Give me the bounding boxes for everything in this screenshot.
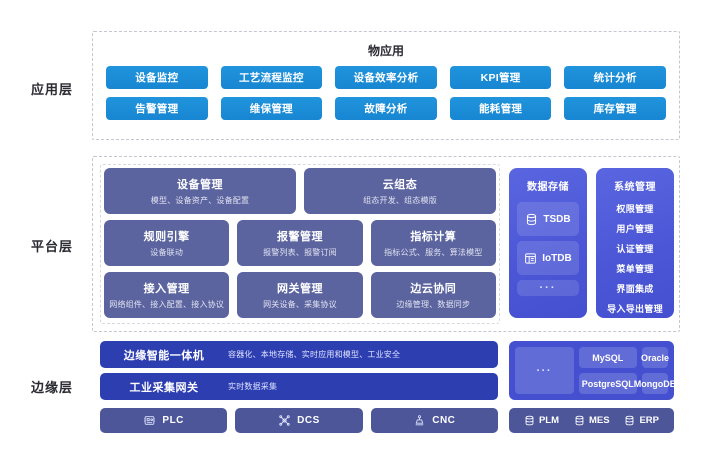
card-title: 规则引擎: [144, 228, 190, 244]
card-title: 网关管理: [277, 280, 323, 296]
platform-card-rule-engine[interactable]: 规则引擎 设备联动: [104, 220, 229, 266]
platform-card-alarm-management[interactable]: 报警管理 报警列表、报警订阅: [237, 220, 362, 266]
platform-card-access-management[interactable]: 接入管理 网络组件、接入配置、接入协议: [104, 272, 229, 318]
database-icon: [524, 415, 535, 426]
enterprise-system-plm[interactable]: PLM: [524, 415, 559, 426]
edge-bar-title: 边缘智能一体机: [100, 347, 228, 363]
app-button-kpi-management[interactable]: KPI管理: [450, 66, 552, 89]
platform-row-1: 设备管理 模型、设备资产、设备配置 云组态 组态开发、组态模版: [104, 168, 496, 214]
db-pill-mysql[interactable]: MySQL: [579, 347, 638, 368]
system-management-title: 系统管理: [614, 178, 656, 193]
db-pill-more[interactable]: ···: [515, 347, 574, 394]
card-title: 报警管理: [277, 228, 323, 244]
card-title: 接入管理: [144, 280, 190, 296]
edge-device-plc[interactable]: PLC: [100, 408, 227, 433]
card-subtitle: 边缘管理、数据同步: [396, 299, 470, 310]
database-icon: [574, 415, 585, 426]
app-button-alarm-management[interactable]: 告警管理: [106, 97, 208, 120]
edge-device-dcs[interactable]: DCS: [235, 408, 362, 433]
layer-label-edge: 边缘层: [16, 377, 88, 396]
system-item-auth[interactable]: 认证管理: [616, 242, 653, 255]
platform-card-device-management[interactable]: 设备管理 模型、设备资产、设备配置: [104, 168, 296, 214]
card-title: 云组态: [383, 176, 418, 192]
enterprise-system-label: PLM: [539, 415, 559, 426]
app-button-inventory-management[interactable]: 库存管理: [564, 97, 666, 120]
edge-bar-industrial-gateway[interactable]: 工业采集网关 实时数据采集: [100, 373, 498, 400]
data-storage-title: 数据存储: [527, 178, 569, 193]
app-button-process-monitoring[interactable]: 工艺流程监控: [221, 66, 323, 89]
app-button-energy-management[interactable]: 能耗管理: [450, 97, 552, 120]
architecture-diagram: 应用层 平台层 边缘层 物应用 设备监控 工艺流程监控 设备效率分析 KPI管理…: [0, 0, 707, 467]
card-subtitle: 指标公式、服务、算法模型: [384, 247, 482, 258]
db-pill-postgresql[interactable]: PostgreSQL: [579, 373, 638, 394]
edge-bar-title: 工业采集网关: [100, 379, 228, 395]
app-button-efficiency-analysis[interactable]: 设备效率分析: [335, 66, 437, 89]
dcs-network-icon: [278, 414, 291, 427]
edge-device-label: CNC: [432, 415, 455, 426]
system-item-import-export[interactable]: 导入导出管理: [607, 302, 663, 315]
platform-card-gateway-management[interactable]: 网关管理 网关设备、采集协议: [237, 272, 362, 318]
card-title: 指标计算: [410, 228, 456, 244]
system-item-user[interactable]: 用户管理: [616, 222, 653, 235]
card-subtitle: 组态开发、组态模版: [363, 195, 437, 206]
app-button-fault-analysis[interactable]: 故障分析: [335, 97, 437, 120]
platform-card-metric-calculation[interactable]: 指标计算 指标公式、服务、算法模型: [371, 220, 496, 266]
card-subtitle: 网络组件、接入配置、接入协议: [109, 299, 224, 310]
application-button-grid: 设备监控 工艺流程监控 设备效率分析 KPI管理 统计分析 告警管理 维保管理 …: [106, 66, 666, 120]
data-storage-label: IoTDB: [542, 253, 571, 264]
app-button-statistical-analysis[interactable]: 统计分析: [564, 66, 666, 89]
db-pill-mongodb[interactable]: MongoDB: [642, 373, 668, 394]
app-button-maintenance-management[interactable]: 维保管理: [221, 97, 323, 120]
cnc-machine-icon: [413, 414, 426, 427]
card-subtitle: 网关设备、采集协议: [263, 299, 337, 310]
data-storage-panel: 数据存储 TSDB IoTDB ···: [509, 168, 587, 318]
table-database-icon: [524, 252, 537, 265]
edge-bar-subtitle: 实时数据采集: [228, 381, 277, 392]
platform-card-cloud-configuration[interactable]: 云组态 组态开发、组态模版: [304, 168, 496, 214]
edge-device-cnc[interactable]: CNC: [371, 408, 498, 433]
enterprise-system-erp[interactable]: ERP: [624, 415, 659, 426]
edge-device-label: DCS: [297, 415, 320, 426]
system-item-menu[interactable]: 菜单管理: [616, 262, 653, 275]
card-subtitle: 模型、设备资产、设备配置: [151, 195, 249, 206]
card-subtitle: 报警列表、报警订阅: [263, 247, 337, 258]
platform-row-3: 接入管理 网络组件、接入配置、接入协议 网关管理 网关设备、采集协议 边云协同 …: [104, 272, 496, 318]
card-title: 边云协同: [410, 280, 456, 296]
edge-bar-intelligent-appliance[interactable]: 边缘智能一体机 容器化、本地存储、实时应用和模型、工业安全: [100, 341, 498, 368]
database-icon: [525, 213, 538, 226]
card-title: 设备管理: [177, 176, 223, 192]
enterprise-systems-bar: PLM MES ERP: [509, 408, 674, 433]
db-pill-oracle[interactable]: Oracle: [642, 347, 668, 368]
layer-label-platform: 平台层: [16, 236, 88, 255]
app-button-device-monitoring[interactable]: 设备监控: [106, 66, 208, 89]
data-storage-item-iotdb[interactable]: IoTDB: [517, 241, 579, 275]
enterprise-system-label: ERP: [639, 415, 659, 426]
card-subtitle: 设备联动: [150, 247, 183, 258]
application-layer-title: 物应用: [92, 42, 680, 59]
enterprise-system-label: MES: [589, 415, 610, 426]
database-icon: [624, 415, 635, 426]
data-storage-item-tsdb[interactable]: TSDB: [517, 202, 579, 236]
system-item-ui-integration[interactable]: 界面集成: [616, 282, 653, 295]
data-storage-label: TSDB: [543, 214, 570, 225]
data-storage-item-more[interactable]: ···: [517, 280, 579, 296]
plc-chip-icon: [143, 414, 156, 427]
platform-card-edge-cloud-collaboration[interactable]: 边云协同 边缘管理、数据同步: [371, 272, 496, 318]
edge-device-chips: PLC DCS CNC: [100, 408, 498, 433]
platform-row-2: 规则引擎 设备联动 报警管理 报警列表、报警订阅 指标计算 指标公式、服务、算法…: [104, 220, 496, 266]
edge-bar-subtitle: 容器化、本地存储、实时应用和模型、工业安全: [228, 349, 400, 360]
system-item-permission[interactable]: 权限管理: [616, 202, 653, 215]
edge-database-panel: MySQL Oracle ··· PostgreSQL MongoDB: [509, 341, 674, 400]
enterprise-system-mes[interactable]: MES: [574, 415, 610, 426]
edge-device-label: PLC: [162, 415, 184, 426]
system-management-panel: 系统管理 权限管理 用户管理 认证管理 菜单管理 界面集成 导入导出管理: [596, 168, 674, 318]
layer-label-application: 应用层: [16, 79, 88, 98]
